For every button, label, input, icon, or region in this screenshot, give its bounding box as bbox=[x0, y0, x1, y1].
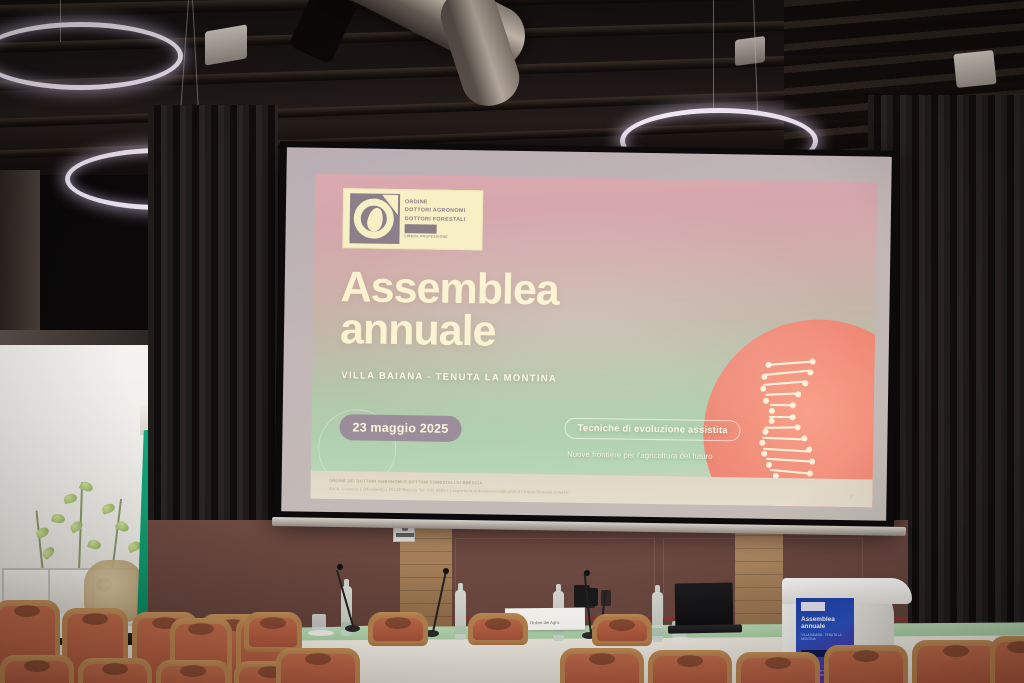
chair bbox=[736, 652, 820, 683]
slide-title: Assemblea annuale bbox=[340, 266, 671, 355]
chair bbox=[368, 612, 428, 646]
poster-logo-icon bbox=[801, 602, 825, 611]
poster-title: Assemblea annuale bbox=[801, 617, 835, 631]
chair bbox=[560, 648, 644, 683]
logo-emblem-icon bbox=[349, 193, 400, 244]
chair bbox=[276, 648, 360, 683]
chair bbox=[912, 640, 1000, 683]
ceiling-box bbox=[953, 50, 996, 88]
logo-line-2: DOTTORI AGRONOMI bbox=[405, 208, 466, 216]
drinking-glass bbox=[312, 614, 326, 631]
saucer bbox=[308, 630, 334, 636]
chair bbox=[156, 660, 230, 683]
water-bottle bbox=[652, 592, 663, 642]
microphone-head bbox=[337, 564, 343, 570]
chair bbox=[78, 658, 152, 683]
microphone-head bbox=[443, 568, 449, 574]
chair bbox=[824, 645, 908, 683]
slide-location: VILLA BAIANA - TENUTA LA MONTINA bbox=[341, 370, 557, 384]
logo-city-badge: BRESCIA bbox=[405, 224, 438, 234]
slide-date-badge: 23 maggio 2025 bbox=[339, 414, 461, 442]
chair bbox=[990, 636, 1024, 683]
chair bbox=[592, 614, 652, 646]
chair bbox=[244, 612, 302, 652]
logo-line-3: DOTTORI FORESTALI bbox=[405, 216, 466, 224]
poster-title-line-2: annuale bbox=[801, 624, 835, 631]
logo-small-note: LIBERA PROFESSIONE bbox=[404, 234, 465, 240]
conference-hall-photo: ORDINE DOTTORI AGRONOMI DOTTORI FORESTAL… bbox=[0, 0, 1024, 683]
logo-text-block: ORDINE DOTTORI AGRONOMI DOTTORI FORESTAL… bbox=[404, 199, 466, 240]
chair bbox=[648, 650, 732, 683]
saucer bbox=[668, 637, 694, 643]
ceiling-speaker bbox=[205, 24, 247, 65]
slide-theme-badge: Tecniche di evoluzione assistita bbox=[564, 418, 740, 442]
projection-screen[interactable]: ORDINE DOTTORI AGRONOMI DOTTORI FORESTAL… bbox=[274, 141, 900, 529]
organization-logo: ORDINE DOTTORI AGRONOMI DOTTORI FORESTAL… bbox=[342, 188, 483, 250]
chair bbox=[468, 613, 528, 645]
poster-subtitle: VILLA BAIANA - TENUTA LA MONTINA bbox=[801, 633, 854, 642]
water-bottle bbox=[455, 590, 466, 640]
screen-surface: ORDINE DOTTORI AGRONOMI DOTTORI FORESTAL… bbox=[281, 147, 892, 520]
chair bbox=[0, 655, 74, 683]
pendant-wire bbox=[713, 0, 714, 112]
microphone-head bbox=[584, 570, 590, 576]
presentation-slide: ORDINE DOTTORI AGRONOMI DOTTORI FORESTAL… bbox=[310, 174, 877, 508]
laptop-base bbox=[668, 624, 742, 633]
ceiling-speaker bbox=[735, 36, 765, 66]
slide-title-line-2: annuale bbox=[340, 308, 671, 355]
logo-line-1: ORDINE bbox=[405, 199, 466, 207]
laptop-screen bbox=[675, 582, 734, 627]
slide-page-number: 1 bbox=[850, 494, 853, 499]
slide-theme-subtitle: Nuove frontiere per l'agricoltura del fu… bbox=[567, 450, 713, 461]
brick-column bbox=[735, 520, 783, 640]
